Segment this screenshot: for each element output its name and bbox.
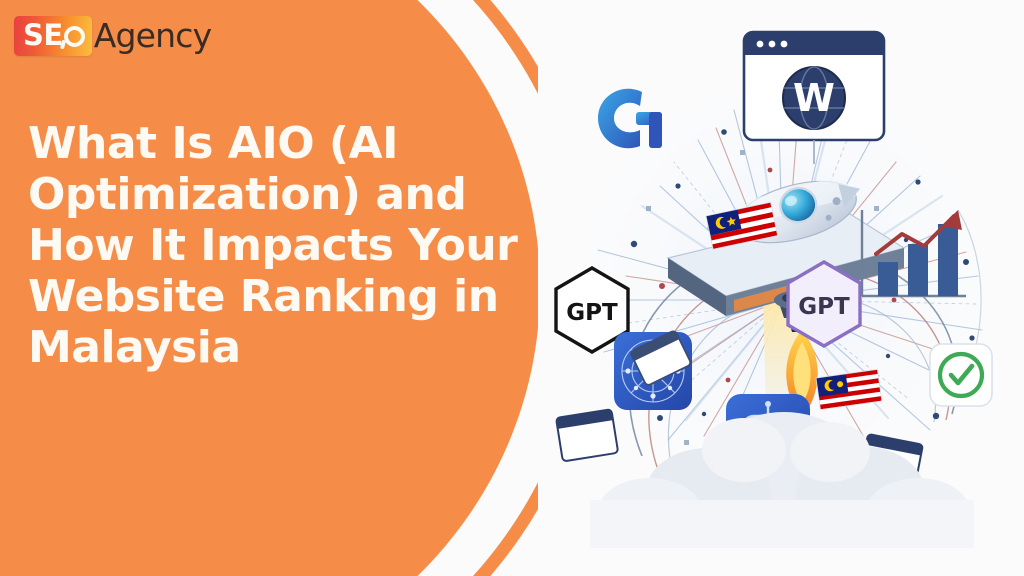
logo-wordmark: Agency <box>94 19 212 52</box>
logo-badge-text: SE <box>23 21 63 50</box>
page-title: What Is AIO (AI Optimization) and How It… <box>28 118 528 373</box>
svg-text:W: W <box>793 76 835 120</box>
brand-logo[interactable]: SE Agency <box>14 14 211 58</box>
logo-badge: SE <box>14 16 92 56</box>
window-dots-icon <box>757 41 788 48</box>
banner-root: SE Agency What Is AIO (AI Optimization) … <box>0 0 1024 576</box>
letter-o-outline-icon <box>64 26 85 47</box>
verified-badge <box>930 344 992 406</box>
mini-browser-window-left <box>556 409 618 461</box>
svg-text:GPT: GPT <box>566 300 618 326</box>
globe-w-icon: W <box>783 67 845 129</box>
svg-text:GPT: GPT <box>798 294 850 320</box>
hero-illustration: W GPT GPT <box>538 0 1024 576</box>
